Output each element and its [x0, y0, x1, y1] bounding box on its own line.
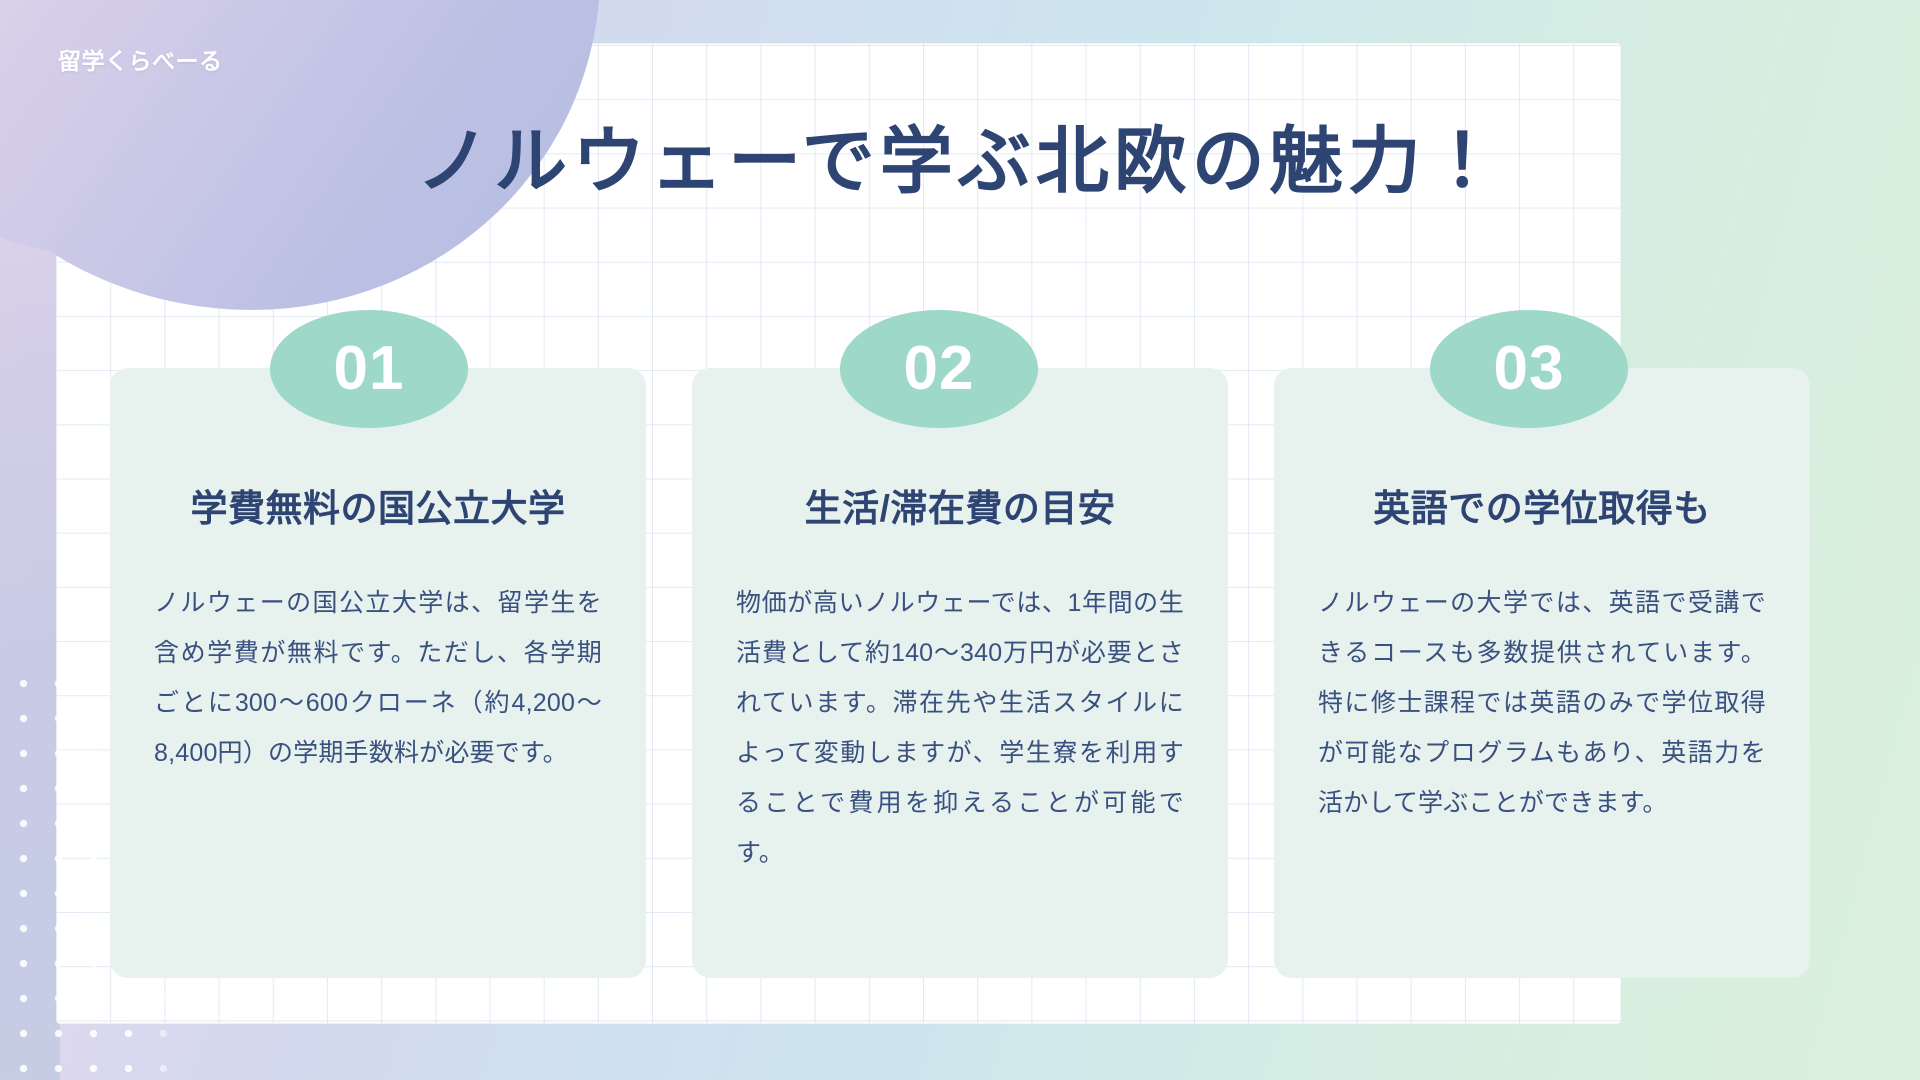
card-number-badge: 01: [270, 310, 468, 428]
slide-canvas: 留学くらべーる ノルウェーで学ぶ北欧の魅力！ 01 学費無料の国公立大学 ノルウ…: [0, 0, 1920, 1080]
card-body-text: ノルウェーの国公立大学は、留学生を含め学費が無料です。ただし、各学期ごとに300…: [154, 578, 602, 778]
feature-card-03: 03 英語での学位取得も ノルウェーの大学では、英語で受講できるコースも多数提供…: [1274, 368, 1810, 978]
card-number-badge: 02: [840, 310, 1038, 428]
card-body-text: ノルウェーの大学では、英語で受講できるコースも多数提供されています。特に修士課程…: [1318, 578, 1766, 828]
card-number-badge: 03: [1430, 310, 1628, 428]
brand-logo-text: 留学くらべーる: [58, 42, 223, 76]
card-body-text: 物価が高いノルウェーでは、1年間の生活費として約140〜340万円が必要とされて…: [736, 578, 1184, 878]
feature-card-list: 01 学費無料の国公立大学 ノルウェーの国公立大学は、留学生を含め学費が無料です…: [110, 368, 1810, 978]
feature-card-01: 01 学費無料の国公立大学 ノルウェーの国公立大学は、留学生を含め学費が無料です…: [110, 368, 646, 978]
feature-card-02: 02 生活/滞在費の目安 物価が高いノルウェーでは、1年間の生活費として約140…: [692, 368, 1228, 978]
card-heading: 生活/滞在費の目安: [736, 486, 1184, 532]
card-heading: 学費無料の国公立大学: [154, 486, 602, 532]
page-title: ノルウェーで学ぶ北欧の魅力！: [0, 125, 1920, 198]
card-heading: 英語での学位取得も: [1318, 486, 1766, 532]
